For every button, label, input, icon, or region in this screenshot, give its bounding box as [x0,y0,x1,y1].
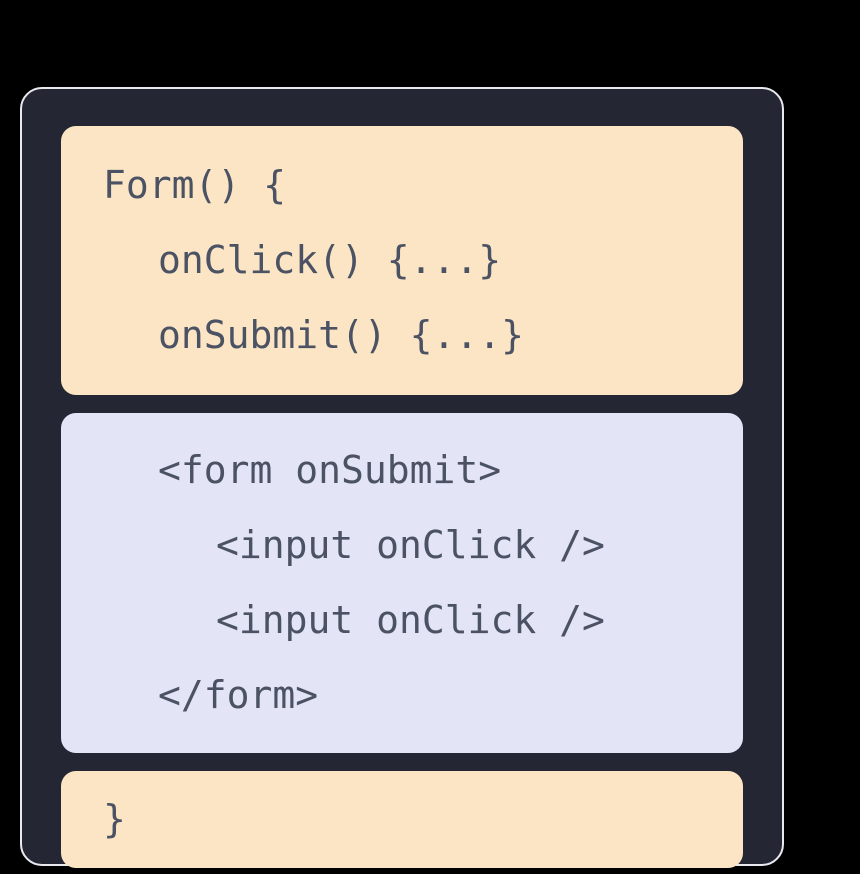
code-line: onSubmit() {...} [61,298,743,373]
code-line: <form onSubmit> [61,433,743,508]
code-lines: <form onSubmit> <input onClick /> <input… [61,433,743,733]
code-lines: Form() { onClick() {...} onSubmit() {...… [61,148,743,373]
code-block-stack: Form() { onClick() {...} onSubmit() {...… [61,126,743,827]
code-line: <input onClick /> [61,583,743,658]
code-line: Form() { [61,148,743,223]
code-block-jsx-markup: <form onSubmit> <input onClick /> <input… [61,413,743,753]
code-line: </form> [61,658,743,733]
code-line: <input onClick /> [61,508,743,583]
diagram-canvas: Form() { onClick() {...} onSubmit() {...… [0,0,860,874]
code-line: onClick() {...} [61,223,743,298]
code-panel: Form() { onClick() {...} onSubmit() {...… [20,87,784,866]
code-block-component-footer: } [61,771,743,868]
code-lines: } [61,782,743,857]
code-line: } [61,782,743,857]
code-block-component-header: Form() { onClick() {...} onSubmit() {...… [61,126,743,395]
